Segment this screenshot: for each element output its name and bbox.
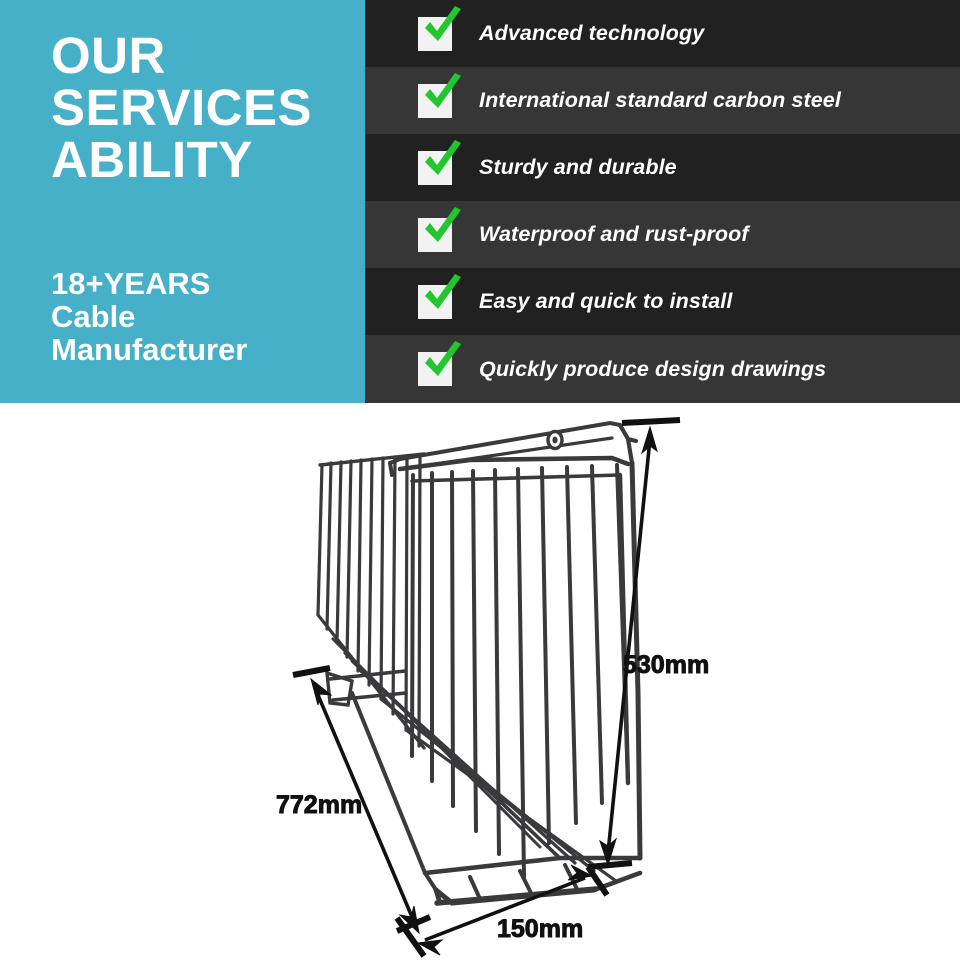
brand-subtitle-years: 18+YEARS [51, 268, 247, 301]
feature-label: Advanced technology [479, 21, 704, 46]
checkbox-checked-icon [418, 285, 452, 319]
feature-row: Sturdy and durable [365, 134, 960, 201]
dimension-530mm-label: 530mm [623, 651, 709, 679]
feature-label: International standard carbon steel [479, 88, 841, 113]
feature-row: Advanced technology [365, 0, 960, 67]
checkbox-checked-icon [418, 84, 452, 118]
feature-label: Easy and quick to install [479, 289, 732, 314]
checkbox-checked-icon [418, 218, 452, 252]
checkbox-checked-icon [418, 17, 452, 51]
dimension-150mm-label: 150mm [497, 915, 583, 943]
promo-banner: OUR SERVICES ABILITY 18+YEARS Cable Manu… [0, 0, 960, 403]
brand-subtitle-manufacturer: Manufacturer [51, 334, 247, 367]
checkbox-checked-icon [418, 151, 452, 185]
wire-rack-illustration [318, 423, 640, 903]
brand-subtitle: 18+YEARS Cable Manufacturer [51, 268, 247, 367]
feature-list: Advanced technology International standa… [365, 0, 960, 403]
feature-row: Waterproof and rust-proof [365, 201, 960, 268]
product-image: 530mm 772mm 15 [0, 403, 960, 960]
feature-row: International standard carbon steel [365, 67, 960, 134]
dimension-530mm: 530mm [588, 420, 709, 867]
checkbox-checked-icon [418, 352, 452, 386]
page-title: OUR SERVICES ABILITY [51, 30, 312, 186]
feature-row: Easy and quick to install [365, 268, 960, 335]
brand-panel: OUR SERVICES ABILITY 18+YEARS Cable Manu… [0, 0, 365, 403]
feature-row: Quickly produce design drawings [365, 335, 960, 402]
feature-label: Quickly produce design drawings [479, 357, 826, 382]
brand-subtitle-cable: Cable [51, 301, 247, 334]
feature-label: Waterproof and rust-proof [479, 222, 749, 247]
feature-label: Sturdy and durable [479, 155, 677, 180]
dimension-772mm-label: 772mm [276, 791, 362, 819]
